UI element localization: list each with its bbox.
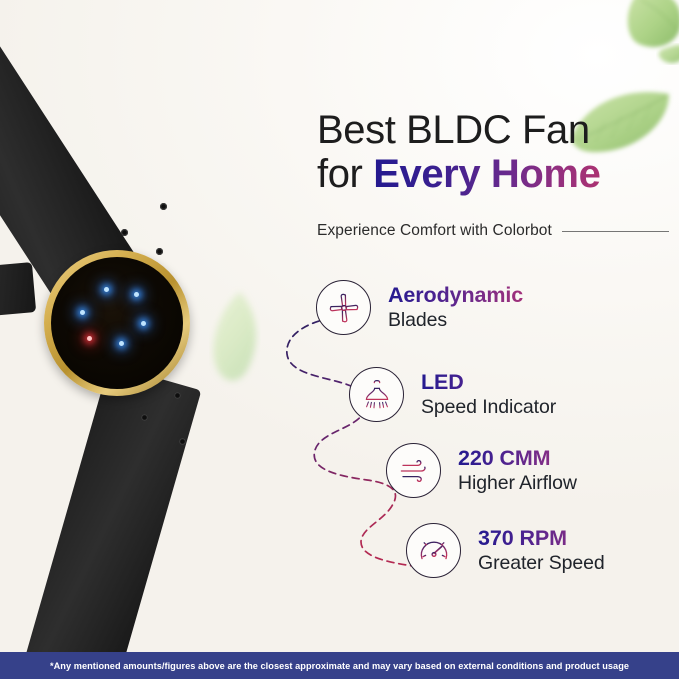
footer-disclaimer-text: *Any mentioned amounts/figures above are… bbox=[50, 661, 629, 671]
feature-title: 370 RPM bbox=[478, 526, 605, 551]
feature-title: Aerodynamic bbox=[388, 283, 523, 308]
wind-airflow-icon-circle bbox=[386, 443, 441, 498]
footer-disclaimer-bar: *Any mentioned amounts/figures above are… bbox=[0, 652, 679, 679]
feature-text: 220 CMM Higher Airflow bbox=[458, 446, 577, 496]
feature-item-led-speed-indicator[interactable]: LED Speed Indicator bbox=[349, 367, 556, 422]
wind-airflow-icon bbox=[397, 454, 431, 488]
feature-text: 370 RPM Greater Speed bbox=[478, 526, 605, 576]
fan-blades-icon bbox=[327, 291, 361, 325]
feature-title: LED bbox=[421, 370, 556, 395]
advertisement-canvas: Best BLDC Fan for Every Home Experience … bbox=[0, 0, 679, 679]
feature-item-aerodynamic-blades[interactable]: Aerodynamic Blades bbox=[316, 280, 523, 335]
feature-subtitle: Higher Airflow bbox=[458, 471, 577, 496]
led-bulb-icon bbox=[360, 378, 394, 412]
feature-item-greater-speed[interactable]: 370 RPM Greater Speed bbox=[406, 523, 605, 578]
speedometer-icon-circle bbox=[406, 523, 461, 578]
fan-blades-icon-circle bbox=[316, 280, 371, 335]
feature-subtitle: Greater Speed bbox=[478, 551, 605, 576]
feature-item-higher-airflow[interactable]: 220 CMM Higher Airflow bbox=[386, 443, 577, 498]
feature-title: 220 CMM bbox=[458, 446, 577, 471]
speedometer-icon bbox=[417, 534, 451, 568]
feature-text: LED Speed Indicator bbox=[421, 370, 556, 420]
led-bulb-icon-circle bbox=[349, 367, 404, 422]
feature-list: Aerodynamic Blades bbox=[0, 0, 679, 679]
feature-subtitle: Blades bbox=[388, 308, 523, 333]
feature-subtitle: Speed Indicator bbox=[421, 395, 556, 420]
feature-text: Aerodynamic Blades bbox=[388, 283, 523, 333]
